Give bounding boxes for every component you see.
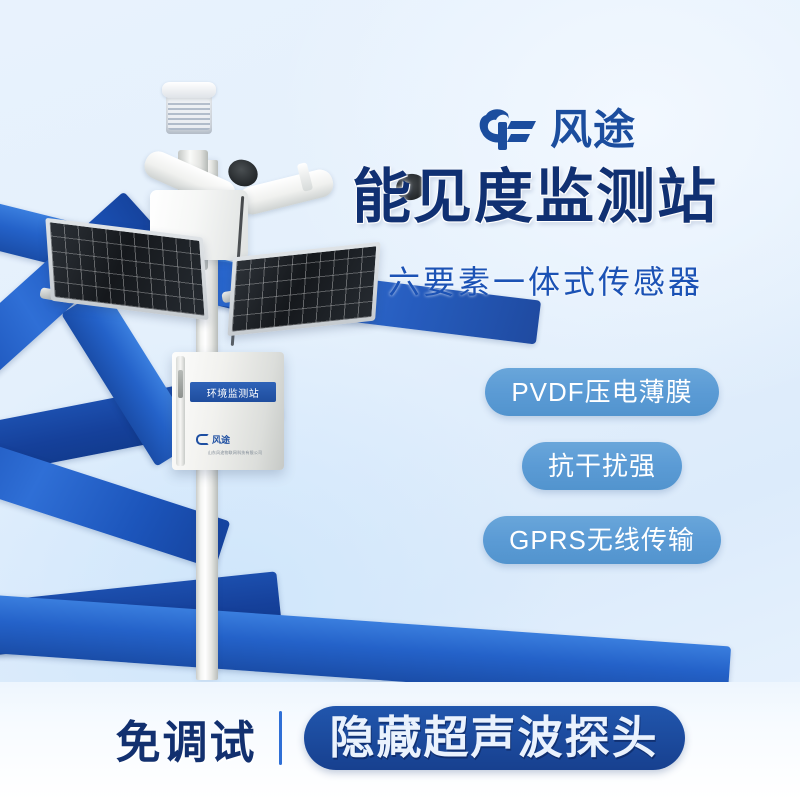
bottom-banner-row: 免调试 隐藏超声波探头: [0, 682, 800, 800]
enclosure-brand-text: 风途: [212, 433, 230, 446]
feature-pill-list: PVDF压电薄膜 抗干扰强 GPRS无线传输: [452, 368, 752, 564]
feature-pill-anti-interference: 抗干扰强: [522, 442, 682, 490]
product-ad-poster: 环境监测站 风途 山东风途物联网科技有限公司 风途 能见度监测站 六要素一体式传…: [0, 0, 800, 800]
gf-cloud-logo-icon: [196, 434, 209, 445]
feature-pill-pvdf: PVDF压电薄膜: [485, 368, 718, 416]
enclosure-label-band: 环境监测站: [190, 382, 276, 402]
bottom-divider: [279, 711, 282, 765]
page-title: 能见度监测站: [352, 168, 772, 227]
feature-pill-gprs: GPRS无线传输: [483, 516, 721, 564]
bottom-right-label: 隐藏超声波探头: [304, 706, 685, 770]
bottom-left-label: 免调试: [115, 706, 256, 771]
enclosure-label-text: 环境监测站: [207, 385, 260, 400]
enclosure-company-text: 山东风途物联网科技有限公司: [190, 450, 280, 456]
radiation-shield-cap: [162, 82, 216, 98]
solar-cells: [232, 246, 377, 332]
enclosure-brand-logo: 风途: [196, 432, 272, 446]
brand-lockup: 风途: [478, 108, 636, 152]
solar-panel-right: [227, 242, 380, 336]
solar-cells: [50, 222, 205, 315]
bottom-banner: 免调试 隐藏超声波探头: [0, 682, 800, 800]
brand-name: 风途: [550, 109, 636, 151]
enclosure-latch: [178, 370, 183, 398]
page-subtitle: 六要素一体式传感器: [388, 266, 772, 298]
gf-cloud-logo-icon: [478, 108, 540, 152]
